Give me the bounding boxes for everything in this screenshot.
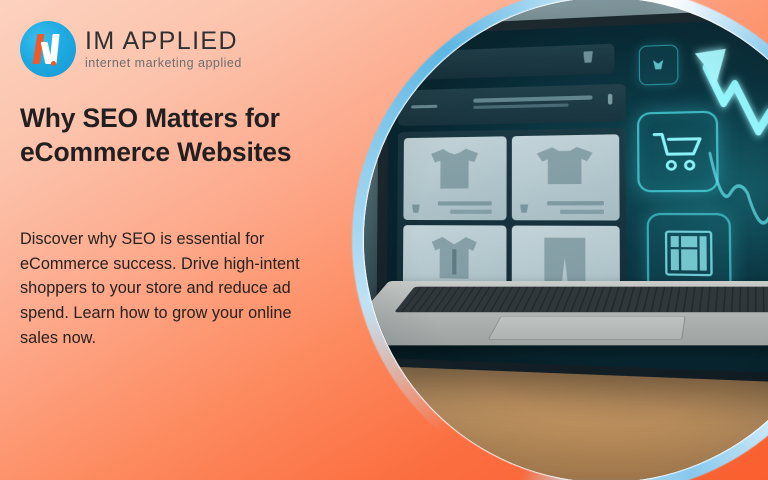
product-card[interactable] bbox=[403, 136, 505, 220]
star-badge-glyph bbox=[653, 60, 663, 70]
search-input[interactable] bbox=[472, 96, 591, 102]
monogram-stroke-white-right bbox=[49, 34, 59, 64]
monogram-dot bbox=[51, 61, 56, 66]
shirt-icon bbox=[431, 237, 476, 279]
cart-mini-icon bbox=[411, 204, 419, 212]
growth-chart bbox=[672, 22, 768, 302]
tshirt-icon bbox=[536, 147, 592, 185]
hero-photo bbox=[364, 0, 768, 480]
brand-name: IM APPLIED bbox=[85, 28, 242, 54]
trend-line-secondary bbox=[710, 152, 768, 230]
brand-logo[interactable]: IM APPLIED internet marketing applied bbox=[20, 18, 331, 80]
sweater-icon bbox=[431, 148, 478, 188]
filter-tag bbox=[411, 104, 437, 108]
laptop-keyboard bbox=[394, 287, 768, 313]
brand-tagline: internet marketing applied bbox=[85, 56, 242, 70]
cup-icon bbox=[583, 51, 593, 63]
seo-ecommerce-banner: IM APPLIED internet marketing applied Wh… bbox=[0, 0, 768, 480]
text-column: IM APPLIED internet marketing applied Wh… bbox=[0, 0, 345, 480]
laptop-base bbox=[364, 281, 768, 345]
brand-wordmark: IM APPLIED internet marketing applied bbox=[85, 28, 242, 69]
cart-mini-icon bbox=[519, 204, 528, 212]
microphone-icon[interactable] bbox=[607, 94, 611, 105]
product-price-line bbox=[450, 209, 491, 213]
trend-arrow-up bbox=[695, 45, 768, 194]
product-card[interactable] bbox=[511, 134, 619, 220]
body-copy: Discover why SEO is essential for eComme… bbox=[20, 227, 302, 351]
pants-icon bbox=[544, 238, 585, 287]
laptop-trackpad bbox=[487, 316, 685, 339]
screen-topbar[interactable] bbox=[412, 44, 613, 81]
page-title: Why SEO Matters for eCommerce Websites bbox=[20, 101, 320, 170]
search-hint bbox=[472, 104, 568, 109]
star-badge-icon[interactable] bbox=[638, 45, 677, 85]
laptop bbox=[379, 27, 768, 424]
im-applied-circle-monogram-icon bbox=[20, 21, 76, 77]
hero-photo-circle bbox=[352, 0, 768, 480]
product-title-line bbox=[547, 202, 603, 206]
search-panel[interactable] bbox=[398, 84, 625, 126]
product-title-line bbox=[438, 202, 491, 206]
product-price-line bbox=[560, 209, 604, 213]
